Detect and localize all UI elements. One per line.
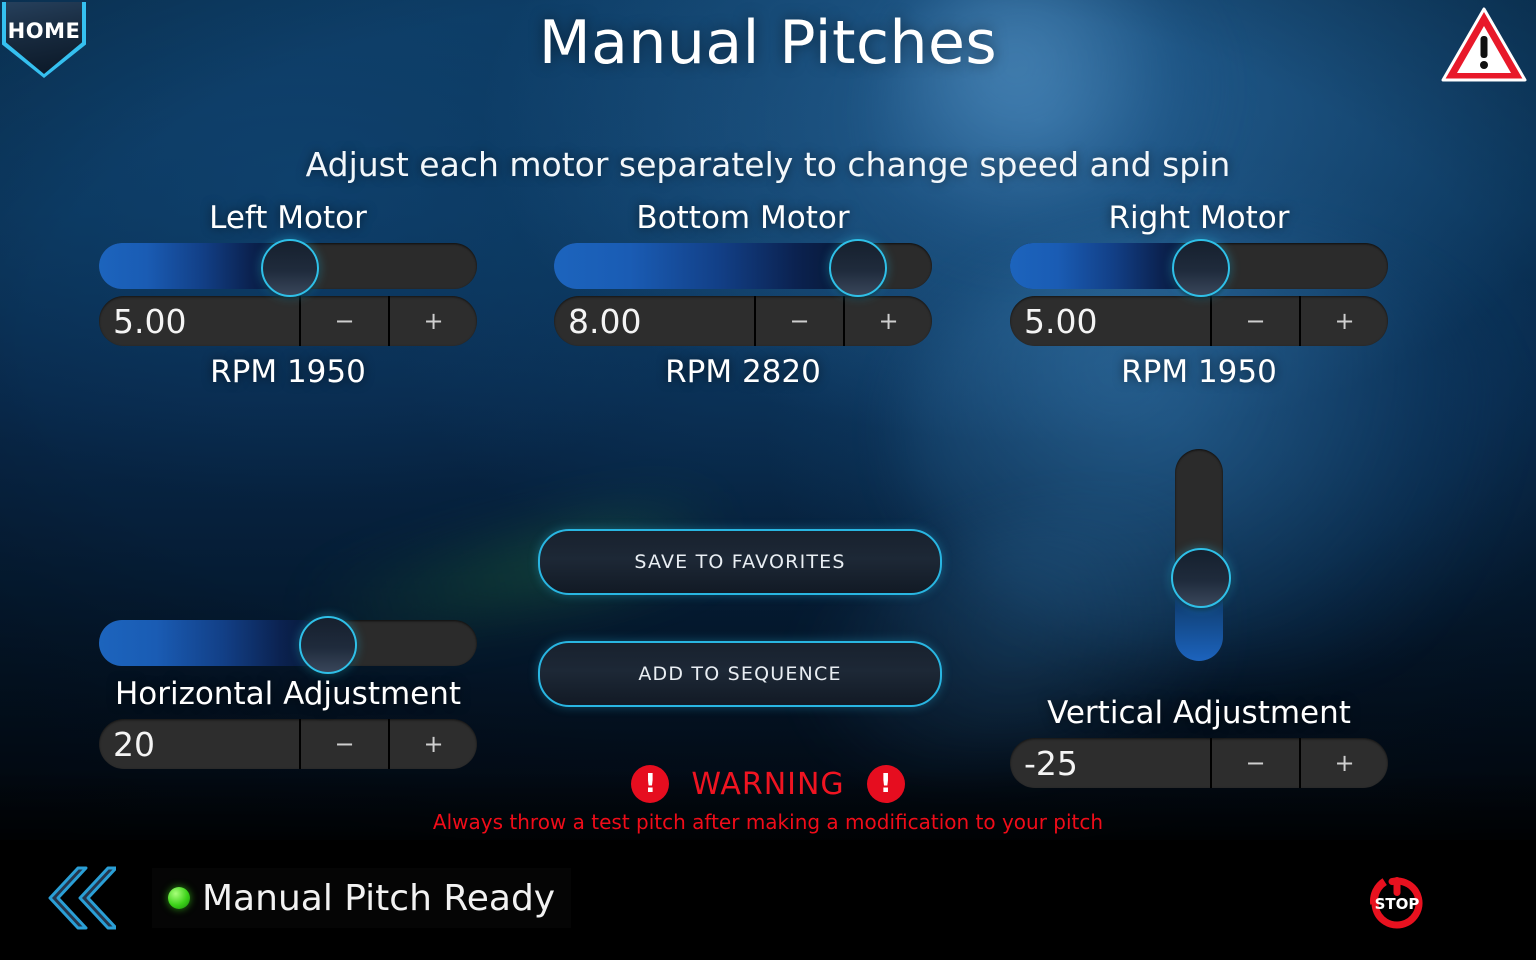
horizontal-adjustment-decrement[interactable]: − <box>299 719 388 769</box>
motor-decrement-right[interactable]: − <box>1210 296 1299 346</box>
slider-thumb[interactable] <box>1172 239 1230 297</box>
horizontal-adjustment-label: Horizontal Adjustment <box>99 676 477 712</box>
add-to-sequence-button[interactable]: ADD TO SEQUENCE <box>538 641 942 707</box>
horizontal-adjustment-value-row: 20 − + <box>99 719 477 769</box>
motor-increment-left[interactable]: + <box>388 296 477 346</box>
motor-increment-bottom[interactable]: + <box>843 296 932 346</box>
motor-increment-right[interactable]: + <box>1299 296 1388 346</box>
slider-thumb[interactable] <box>829 239 887 297</box>
motor-rpm-bottom: RPM 2820 <box>554 354 932 390</box>
slider-fill <box>99 243 288 289</box>
warning-word: WARNING <box>691 767 844 802</box>
motor-decrement-left[interactable]: − <box>299 296 388 346</box>
motor-label-right: Right Motor <box>1010 200 1388 236</box>
motor-slider-bottom[interactable] <box>554 243 932 289</box>
page-subtitle: Adjust each motor separately to change s… <box>0 145 1536 184</box>
motor-value-right[interactable]: 5.00 <box>1010 296 1210 346</box>
manual-pitches-screen: HOME Manual Pitches Adjust each motor se… <box>0 0 1536 960</box>
status-bar: Manual Pitch Ready <box>152 868 571 928</box>
warning-row: ! WARNING ! <box>0 765 1536 803</box>
status-text: Manual Pitch Ready <box>202 878 555 919</box>
horizontal-adjustment-increment[interactable]: + <box>388 719 477 769</box>
slider-thumb[interactable] <box>1171 548 1231 608</box>
motor-value-bottom[interactable]: 8.00 <box>554 296 754 346</box>
motor-slider-right[interactable] <box>1010 243 1388 289</box>
stop-button-label: STOP <box>1375 895 1420 913</box>
motor-value-row-left: 5.00 − + <box>99 296 477 346</box>
save-to-favorites-button[interactable]: SAVE TO FAVORITES <box>538 529 942 595</box>
vertical-adjustment-label: Vertical Adjustment <box>1010 695 1388 731</box>
horizontal-adjustment-panel: Horizontal Adjustment 20 − + <box>99 620 477 769</box>
slider-thumb[interactable] <box>261 239 319 297</box>
bottom-bar: Manual Pitch Ready STOP <box>0 840 1536 960</box>
slider-fill <box>554 243 856 289</box>
motor-panel-bottom: Bottom Motor 8.00 − + RPM 2820 <box>554 200 932 390</box>
warning-badge-icon-right: ! <box>867 765 905 803</box>
slider-fill <box>1010 243 1199 289</box>
motor-label-bottom: Bottom Motor <box>554 200 932 236</box>
slider-fill <box>99 620 326 666</box>
motor-value-left[interactable]: 5.00 <box>99 296 299 346</box>
motor-decrement-bottom[interactable]: − <box>754 296 843 346</box>
slider-thumb[interactable] <box>299 616 357 674</box>
motor-value-row-right: 5.00 − + <box>1010 296 1388 346</box>
horizontal-adjustment-slider[interactable] <box>99 620 477 666</box>
page-title: Manual Pitches <box>0 8 1536 78</box>
motor-panel-right: Right Motor 5.00 − + RPM 1950 <box>1010 200 1388 390</box>
back-chevron-icon[interactable] <box>38 866 116 930</box>
motor-panel-left: Left Motor 5.00 − + RPM 1950 <box>99 200 477 390</box>
motor-rpm-right: RPM 1950 <box>1010 354 1388 390</box>
motor-value-row-bottom: 8.00 − + <box>554 296 932 346</box>
stop-button[interactable]: STOP <box>1366 870 1428 932</box>
warning-message: Always throw a test pitch after making a… <box>0 810 1536 834</box>
vertical-adjustment-slider[interactable] <box>1175 449 1223 661</box>
warning-badge-icon-left: ! <box>631 765 669 803</box>
horizontal-adjustment-value[interactable]: 20 <box>99 719 299 769</box>
motor-slider-left[interactable] <box>99 243 477 289</box>
status-led-icon <box>168 887 190 909</box>
motor-label-left: Left Motor <box>99 200 477 236</box>
motor-rpm-left: RPM 1950 <box>99 354 477 390</box>
